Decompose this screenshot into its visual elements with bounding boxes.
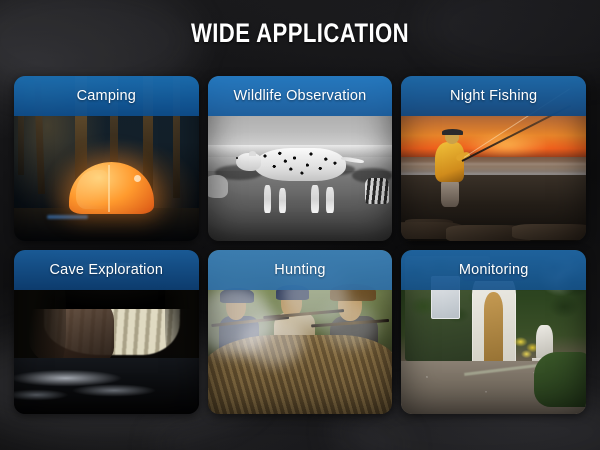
application-card-grid: Camping [14,76,586,414]
card-header-cave-exploration: Cave Exploration [14,250,199,290]
fisherman-yellow-jacket [435,142,464,181]
wave-streak [401,163,586,165]
fisherman-cap [442,129,462,135]
tent-rainfly [76,170,108,209]
application-card-monitoring[interactable]: Monitoring [401,250,586,415]
fisherman [433,129,474,205]
card-header-wildlife-observation: Wildlife Observation [208,76,393,116]
cheetah-leg [311,185,319,213]
card-label: Monitoring [459,262,529,278]
application-card-camping[interactable]: Camping [14,76,199,241]
card-header-camping: Camping [14,76,199,116]
smoke-wisp-5 [150,410,410,450]
gun-smoke [322,302,377,348]
ground-mat [47,215,88,219]
background-zebra [365,178,389,204]
background-animal [208,175,228,198]
card-header-monitoring: Monitoring [401,250,586,290]
hedge [534,352,586,408]
tent-logo [134,175,141,182]
cheetah [234,148,360,204]
card-header-night-fishing: Night Fishing [401,76,586,116]
cheetah-leg [279,188,287,214]
card-label: Wildlife Observation [234,88,367,104]
rock [512,224,586,240]
rocky-shore [401,175,586,241]
card-label: Night Fishing [450,88,537,104]
page-title: WIDE APPLICATION [54,18,546,49]
gun-smoke [241,315,304,364]
cheetah-body [254,148,347,180]
card-header-hunting: Hunting [208,250,393,290]
cheetah-leg [264,185,272,213]
application-card-cave-exploration[interactable]: Cave Exploration [14,250,199,415]
tent-seam [108,165,110,212]
fisherman-legs [441,179,459,208]
cheetah-muzzle [236,157,238,159]
application-card-wildlife-observation[interactable]: Wildlife Observation [208,76,393,241]
card-label: Camping [77,88,136,104]
application-card-hunting[interactable]: Hunting [208,250,393,415]
card-label: Hunting [274,262,325,278]
cheetah-ear [249,151,257,157]
application-card-night-fishing[interactable]: Night Fishing [401,76,586,241]
cheetah-leg [326,187,334,213]
wide-application-poster: WIDE APPLICATION [0,0,600,450]
cave-floor-water [14,358,199,414]
card-label: Cave Exploration [50,262,164,278]
